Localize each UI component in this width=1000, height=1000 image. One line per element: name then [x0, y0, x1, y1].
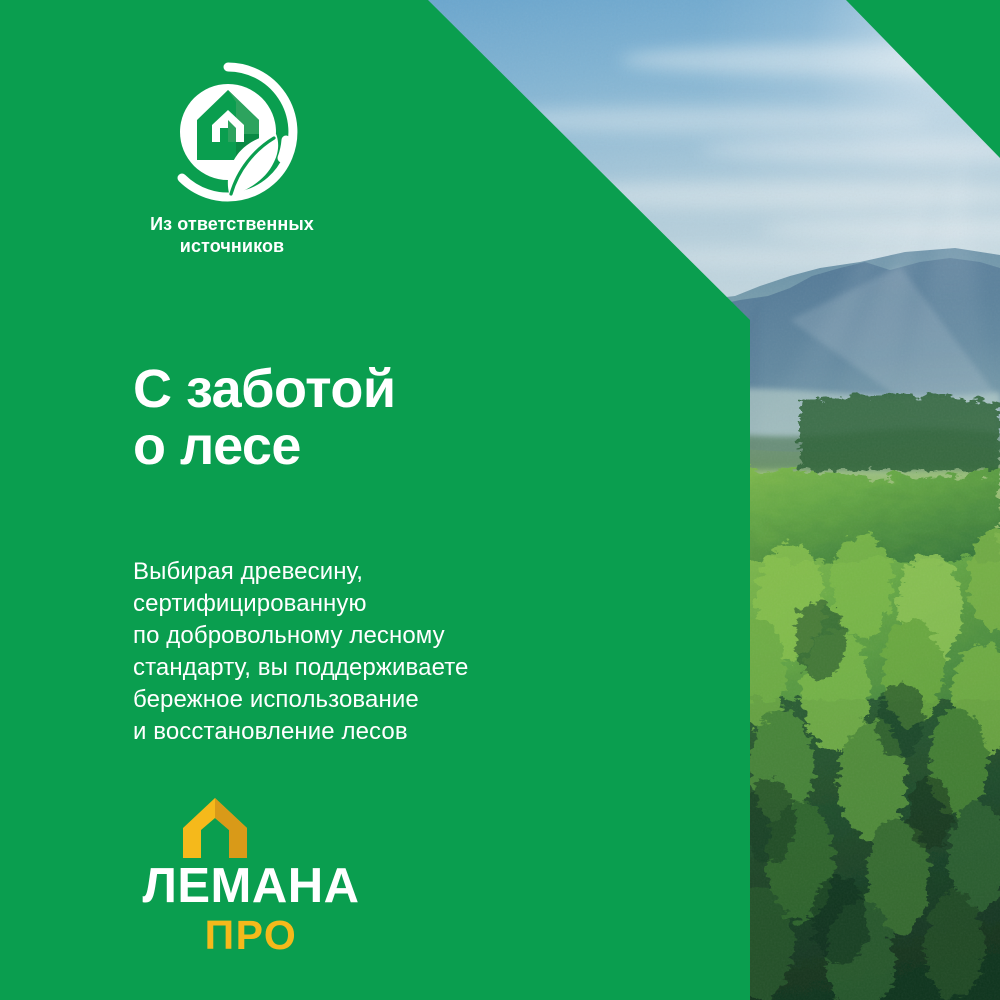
brand-sub: ПРО — [136, 915, 366, 956]
brand-name: ЛЕМАНА — [136, 862, 366, 911]
responsible-sources-badge: Из ответственных источников — [132, 62, 392, 258]
responsible-sources-seal-icon — [158, 62, 298, 202]
lemana-pro-logo: ЛЕМАНА ПРО — [136, 796, 366, 956]
body-copy: Выбирая древесину, сертифицированную по … — [133, 556, 469, 747]
responsible-sources-caption: Из ответственных источников — [132, 214, 332, 258]
headline: С заботой о лесе — [133, 361, 396, 475]
poster-content: Из ответственных источников С заботой о … — [0, 0, 1000, 1000]
poster-canvas: Из ответственных источников С заботой о … — [0, 0, 1000, 1000]
lemana-roof-icon — [179, 796, 251, 860]
